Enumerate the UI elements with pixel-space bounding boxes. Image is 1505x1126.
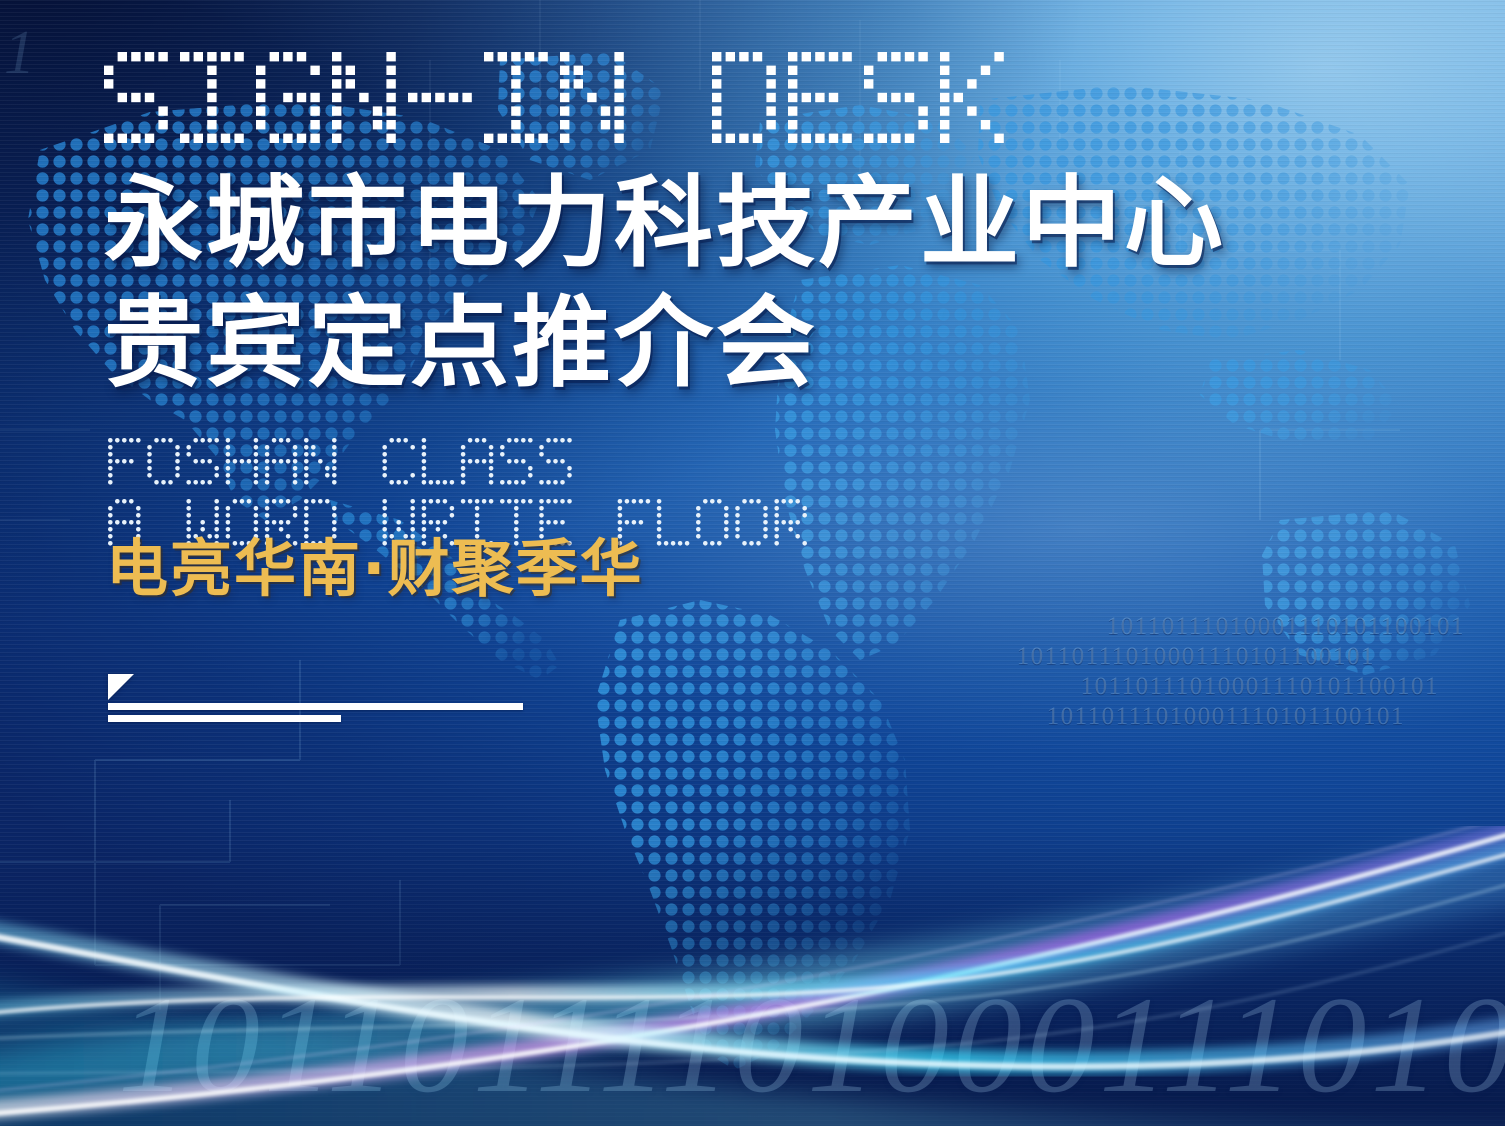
poster-content: 1 永城市电力科技产业中心 贵宾定点推介会 电亮华南·财聚季华 10110111…: [0, 0, 1505, 1126]
rule-long: [108, 703, 523, 710]
decorative-rule-group: [108, 674, 528, 718]
neon-light-ribbons: [0, 826, 1505, 1126]
binary-line: 10110111010001110101100101: [1017, 702, 1405, 732]
gold-tagline: 电亮华南·财聚季华: [106, 534, 644, 604]
stray-digit: 1: [4, 22, 35, 84]
page-title-line-1: 永城市电力科技产业中心: [104, 172, 1226, 276]
led-headline-sign-in-desk: [104, 52, 1016, 147]
binary-line: 10110111010001110101100101: [1017, 672, 1439, 702]
rule-short: [108, 715, 341, 722]
binary-code-strip: 10110111010001110101100101 1011011101000…: [1017, 612, 1447, 732]
poster-canvas: 1 永城市电力科技产业中心 贵宾定点推介会 电亮华南·财聚季华 10110111…: [0, 0, 1505, 1126]
binary-line: 10110111010001110101100101: [1017, 612, 1465, 642]
triangle-marker-icon: [108, 674, 134, 700]
page-title-line-2: 贵宾定点推介会: [104, 292, 818, 396]
binary-line: 10110111010001110101100101: [1017, 642, 1375, 672]
